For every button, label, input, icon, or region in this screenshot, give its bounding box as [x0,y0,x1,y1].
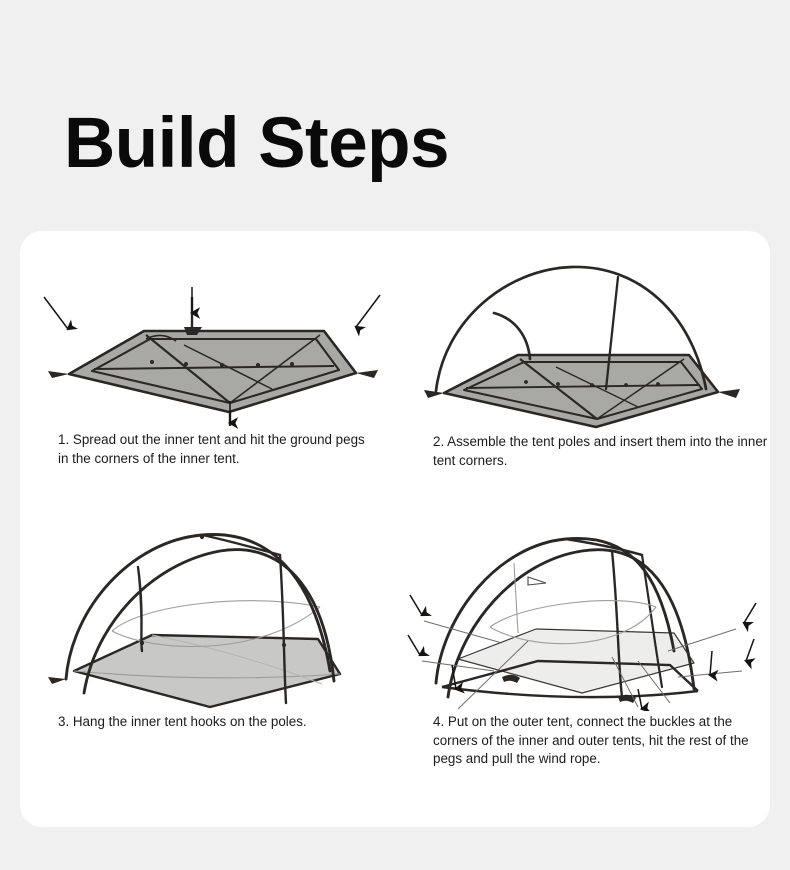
secondary-arch-pole [494,313,530,359]
arrow-peg-front-centre [638,689,642,709]
step-2: 2. Assemble the tent poles and insert th… [406,261,762,470]
arrow-right-peg [356,295,380,327]
step-1: 1. Spread out the inner tent and hit the… [34,269,390,468]
arrow-peg-right-upper [744,603,756,623]
step-4-caption: 4. Put on the outer tent, connect the bu… [433,713,778,769]
arrow-peg-left-upper [410,595,422,615]
wind-rope-flag [528,577,546,585]
arrow-peg-right-lower [746,639,754,661]
arrow-left-peg [44,297,68,329]
tent-poles-inserted-diagram [406,261,762,431]
arrow-peg-right-front [710,651,712,675]
step-1-caption: 1. Spread out the inner tent and hit the… [58,431,378,468]
arrow-peg-left-lower [408,635,420,655]
inner-tent-flat-diagram [34,269,390,429]
step-3: 3. Hang the inner tent hooks on the pole… [34,511,390,732]
groundsheet [69,331,356,412]
groundsheet [424,355,740,427]
step-4: 4. Put on the outer tent, connect the bu… [406,511,762,769]
step-2-caption: 2. Assemble the tent poles and insert th… [433,433,778,470]
steps-card: 1. Spread out the inner tent and hit the… [20,231,770,827]
outer-tent-pegged-diagram [406,511,762,711]
corner-peg-left [48,677,66,684]
steps-grid: 1. Spread out the inner tent and hit the… [20,231,770,827]
step-3-caption: 3. Hang the inner tent hooks on the pole… [58,713,378,732]
page-title: Build Steps [64,108,449,179]
inner-tent-hung-diagram [34,511,390,711]
